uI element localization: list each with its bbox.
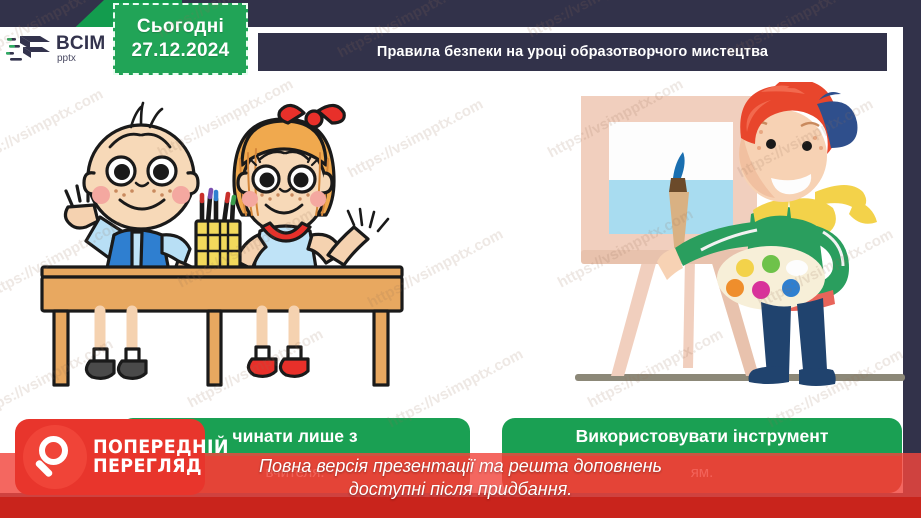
date-badge: Сьогодні 27.12.2024: [113, 3, 248, 75]
logo-title: BCIM: [56, 34, 105, 53]
slide-window: BCIM pptx Сьогодні 27.12.2024 Правила бе…: [0, 0, 921, 518]
preview-badge[interactable]: ПОПЕРЕДНІЙ ПЕРЕГЛЯД: [15, 419, 205, 495]
date-badge-label: Сьогодні: [137, 16, 224, 38]
graduation-cap-icon: [6, 32, 52, 66]
content-box-right-header: Використовувати інструмент: [502, 418, 902, 456]
two-children-at-desk-illustration: [28, 95, 418, 405]
slide-title-bar: Правила безпеки на уроці образотворчого …: [258, 33, 887, 71]
brand-logo[interactable]: BCIM pptx: [6, 28, 110, 70]
logo-subtitle: pptx: [57, 54, 105, 64]
preview-badge-line2: ПЕРЕГЛЯД: [93, 457, 229, 476]
date-badge-value: 27.12.2024: [131, 40, 229, 62]
magnifier-icon: [23, 425, 87, 489]
boy-painting-at-easel-illustration: [575, 82, 905, 412]
page-title: Правила безпеки на уроці образотворчого …: [377, 44, 768, 60]
